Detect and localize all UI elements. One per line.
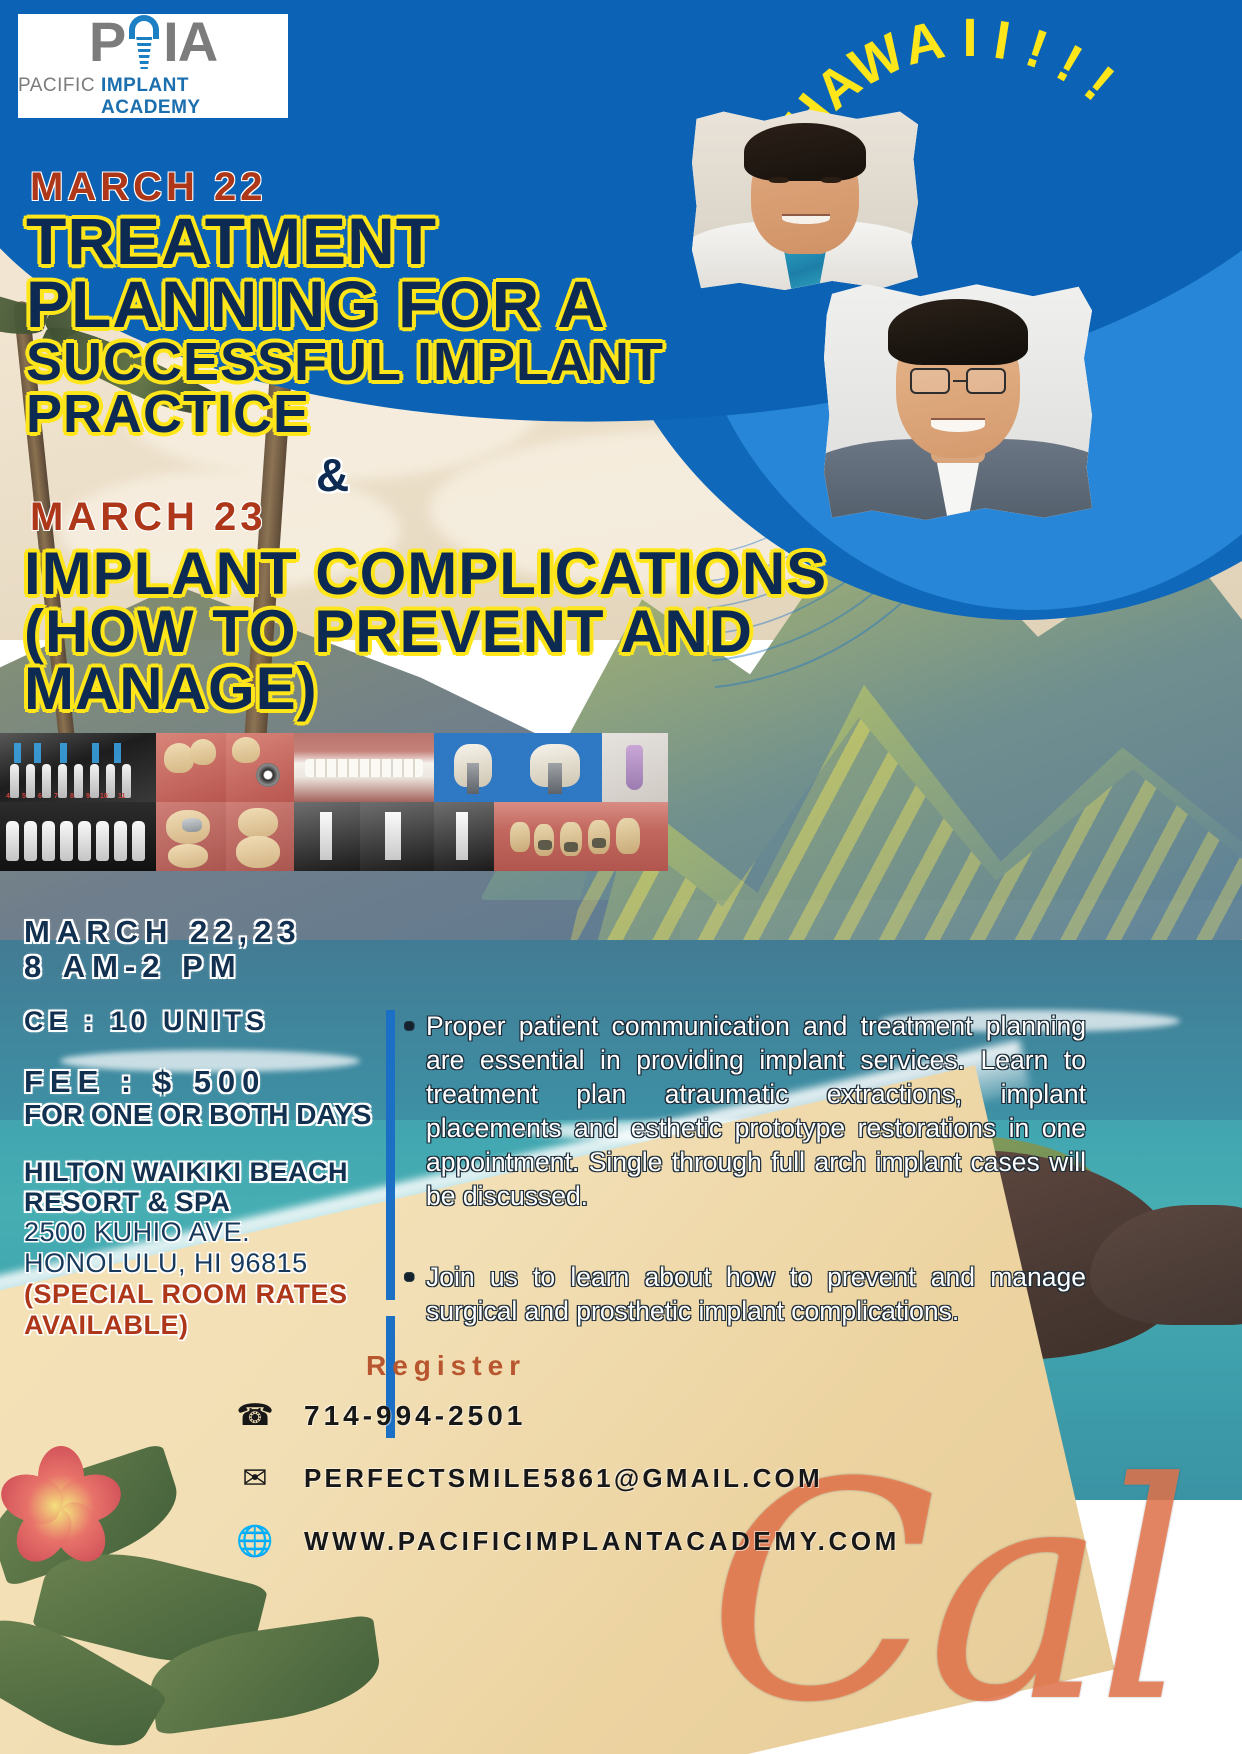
hawaii-char: I [990,9,1015,73]
detail-time: 8 AM-2 PM [24,950,384,985]
session-2-date: MARCH 23 [30,495,266,540]
globe-icon: 🌐 [236,1524,274,1559]
detail-venue-line-2: RESORT & SPA [24,1187,384,1217]
dental-implant-icon [127,13,161,71]
clinical-photo-periodontitis [494,802,668,871]
hawaii-char: ! [1073,54,1126,114]
detail-ce: CE : 10 UNITS [24,1006,384,1036]
session-1-title: TREATMENT PLANNING FOR A SUCCESSFUL IMPL… [26,210,726,440]
phone-icon: ☎ [236,1398,274,1433]
detail-venue-line-1: HILTON WAIKIKI BEACH [24,1157,384,1187]
clinical-photo-panoramic [0,802,156,871]
session-2-title: IMPLANT COMPLICATIONS (HOW TO PREVENT AN… [24,545,1024,718]
detail-address-line-1: 2500 KUHIO AVE. [24,1217,384,1248]
event-details: MARCH 22,23 8 AM-2 PM CE : 10 UNITS FEE … [24,915,384,1341]
ampersand: & [316,448,349,502]
description-bullets: Proper patient communication and treatme… [386,1010,1086,1377]
clinical-photo-occlusal-1 [156,802,226,871]
session-1-title-line: PLANNING FOR A [26,267,606,341]
contact-block: ☎ 714-994-2501 ✉ PERFECTSMILE5861@GMAIL.… [236,1398,1176,1587]
bullet-item: Join us to learn about how to prevent an… [386,1261,1086,1329]
logo-word-implant-academy: IMPLANT ACADEMY [101,75,288,119]
logo-mark: P IA [89,13,217,71]
detail-fee: FEE : $ 500 [24,1065,384,1100]
clinical-photo-smile [294,733,434,802]
session-2-title-line: IMPLANT COMPLICATIONS [24,545,1024,603]
contact-website[interactable]: WWW.PACIFICIMPLANTACADEMY.COM [304,1526,900,1557]
clinical-photo-periapical-2 [360,802,434,871]
session-1-title-line: TREATMENT [26,210,726,273]
contact-row-phone[interactable]: ☎ 714-994-2501 [236,1398,1176,1433]
detail-dates: MARCH 22,23 [24,915,384,950]
logo-letter-p: P [89,14,125,70]
hibiscus-flower [0,1440,120,1560]
logo-wordmark: PACIFIC IMPLANT ACADEMY [18,75,288,119]
logo-word-pacific: PACIFIC [18,75,95,119]
clinical-photo-implant-site [226,733,294,802]
logo-letters-ia: IA [163,14,217,70]
clinical-photo-crown-1 [434,733,512,802]
clinical-photo-ct-scan: 45 67 89 1011 [0,733,156,802]
contact-row-email[interactable]: ✉ PERFECTSMILE5861@GMAIL.COM [236,1461,1176,1496]
session-1-title-line: PRACTICE [26,389,726,441]
clinical-photo-abutment [602,733,668,802]
clinical-photo-row [0,802,668,871]
hawaii-char: ! [1018,17,1055,81]
detail-fee-note: FOR ONE OR BOTH DAYS [24,1099,384,1130]
speaker-2-portrait [824,282,1092,520]
clinical-photo-extraction [156,733,226,802]
contact-row-website[interactable]: 🌐 WWW.PACIFICIMPLANTACADEMY.COM [236,1524,1176,1559]
speaker-photo-2 [824,282,1092,520]
register-heading: Register [366,1350,526,1382]
clinical-photo-strip: 45 67 89 1011 [0,733,668,871]
clinical-photo-occlusal-2 [226,802,294,871]
detail-address-line-2: HONOLULU, HI 96815 [24,1248,384,1279]
detail-room-rates-line-1: (SPECIAL ROOM RATES [24,1279,384,1310]
contact-email[interactable]: PERFECTSMILE5861@GMAIL.COM [304,1463,823,1494]
session-1-title-line: SUCCESSFUL IMPLANT [26,337,726,389]
clinical-photo-periapical-1 [294,802,360,871]
bullet-item: Proper patient communication and treatme… [386,1010,1086,1213]
contact-phone[interactable]: 714-994-2501 [304,1400,526,1432]
clinical-photo-periapical-3 [434,802,494,871]
detail-room-rates-line-2: AVAILABLE) [24,1310,384,1341]
clinical-photo-row: 45 67 89 1011 [0,733,668,802]
hawaii-char: I [962,7,977,69]
clinical-photo-crown-2 [512,733,602,802]
envelope-icon: ✉ [236,1461,274,1496]
logo: P IA PACIFIC IMPLANT ACADEMY [18,14,288,118]
session-2-title-line: (HOW TO PREVENT AND MANAGE) [24,603,1024,718]
